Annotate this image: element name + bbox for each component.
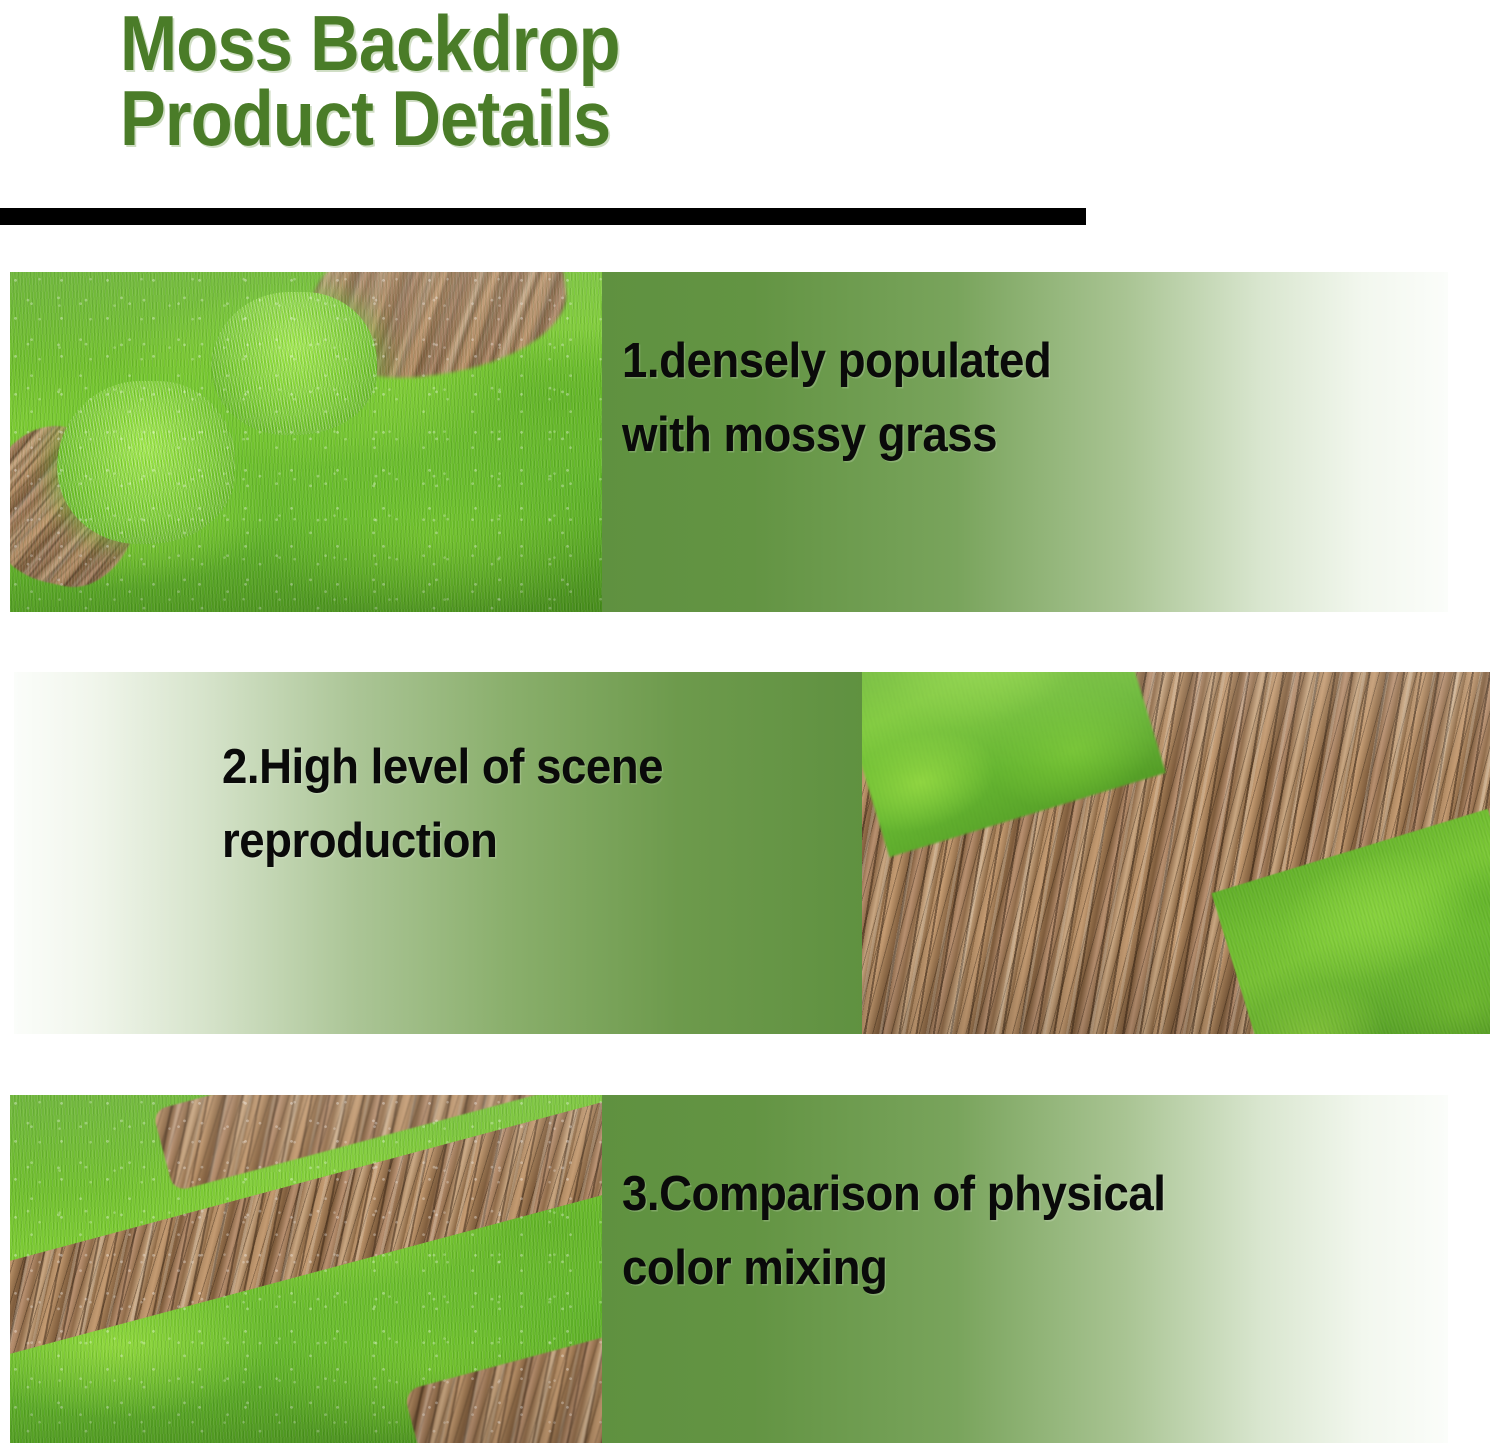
- page-header: Moss Backdrop Product Details: [0, 0, 1490, 232]
- feature-row-3: 3.Comparison of physical color mixing: [0, 1095, 1490, 1443]
- page-title: Moss Backdrop Product Details: [120, 6, 1000, 156]
- feature-row-3-caption: 3.Comparison of physical color mixing: [622, 1157, 1403, 1306]
- feature-row-1-caption: 1.densely populated with mossy grass: [622, 324, 1385, 473]
- photo-vignette: [862, 672, 1490, 1034]
- photo-vignette: [10, 1095, 602, 1443]
- feature-row-2-photo-bark: [862, 672, 1490, 1034]
- title-underline-rule: [0, 208, 1086, 225]
- feature-row-1-photo-moss: [10, 272, 602, 612]
- feature-row-2-caption: 2.High level of scene reproduction: [222, 730, 873, 879]
- feature-row-3-photo-bark-on-moss: [10, 1095, 602, 1443]
- feature-row-2: 2.High level of scene reproduction: [0, 672, 1490, 1034]
- photo-vignette: [10, 272, 602, 612]
- feature-row-1: 1.densely populated with mossy grass: [0, 272, 1490, 612]
